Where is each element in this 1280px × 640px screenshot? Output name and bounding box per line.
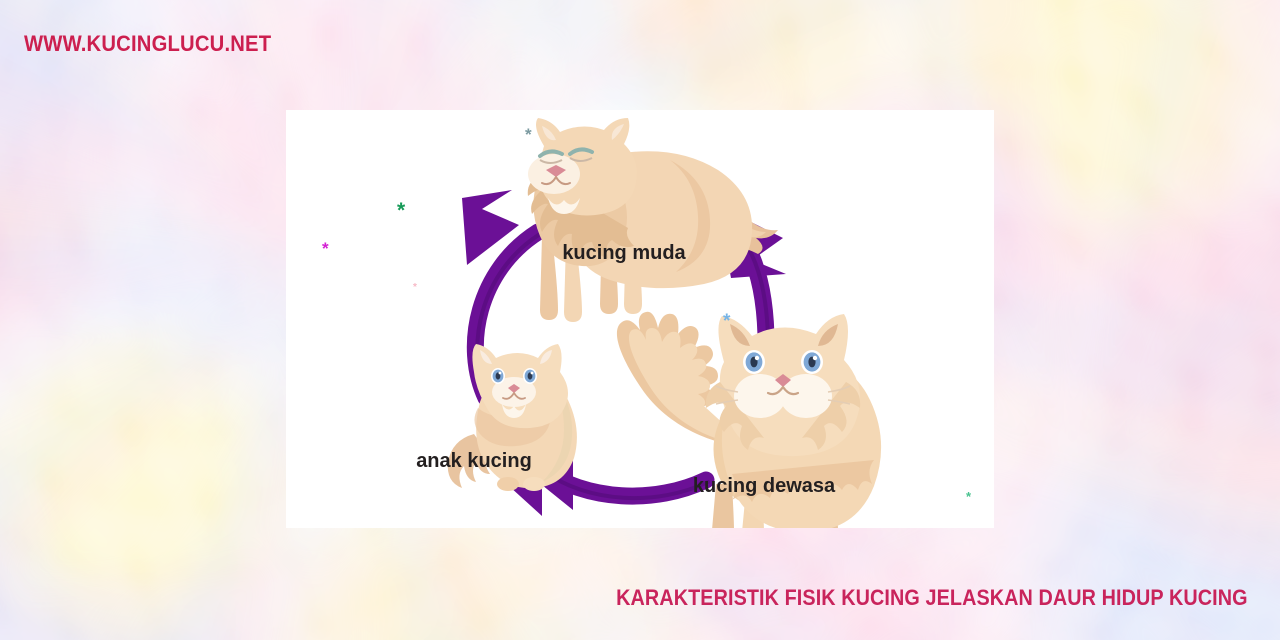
label-kucing-dewasa: kucing dewasa [693, 475, 836, 497]
star-magenta-left-icon: * [322, 240, 329, 257]
star-teal-top-icon: * [525, 126, 532, 143]
label-kucing-muda: kucing muda [562, 242, 686, 264]
site-watermark: WWW.KUCINGLUCU.NET [24, 31, 271, 57]
star-mint-bottom-icon: * [966, 490, 971, 503]
life-cycle-illustration: kucing muda anak kucing kucing dewasa [286, 110, 994, 528]
star-pink-small-icon: * [413, 283, 417, 293]
page-caption: KARAKTERISTIK FISIK KUCING JELASKAN DAUR… [617, 585, 1248, 611]
diagram-card: kucing muda anak kucing kucing dewasa [286, 110, 994, 528]
screenshot-root: WWW.KUCINGLUCU.NET [0, 0, 1280, 640]
star-blue-center-icon: * [723, 312, 730, 331]
star-green-left-icon: * [397, 200, 405, 221]
label-anak-kucing: anak kucing [416, 450, 532, 472]
illustration-kucing-muda [528, 118, 778, 322]
